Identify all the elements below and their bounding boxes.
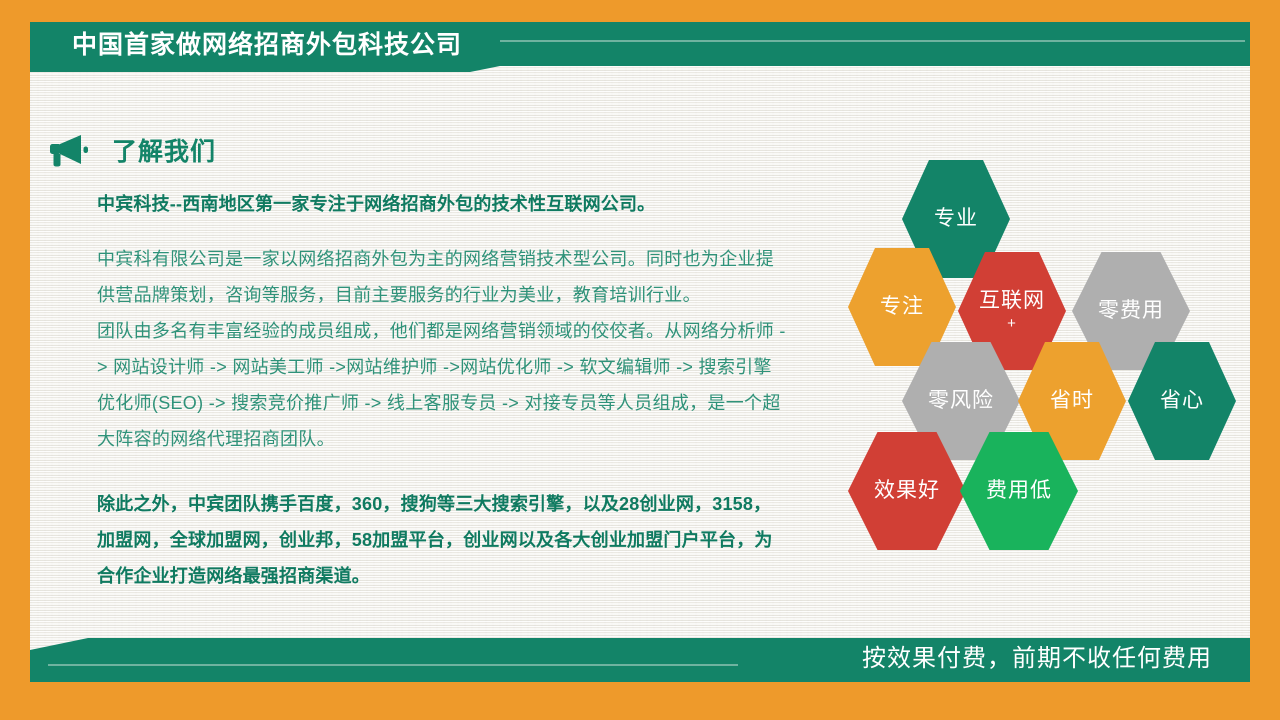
megaphone-icon xyxy=(48,133,90,167)
header-title: 中国首家做网络招商外包科技公司 xyxy=(72,22,462,69)
header-divider-line xyxy=(500,40,1245,42)
hexagon-label: 零费用 xyxy=(1098,298,1164,324)
slide-root: 中国首家做网络招商外包科技公司 了解我们 中宾科技--西南地区第一家专注于网络招… xyxy=(0,0,1280,720)
hexagon-label: 专业 xyxy=(934,206,978,232)
footer-banner: 按效果付费，前期不收任何费用 xyxy=(30,638,1250,682)
about-lead-line: 中宾科技--西南地区第一家专注于网络招商外包的技术性互联网公司。 xyxy=(97,191,787,217)
hexagon-label: 效果好 xyxy=(874,478,940,504)
hexagon-label: 省时 xyxy=(1050,388,1094,414)
about-closing-paragraph: 除此之外，中宾团队携手百度，360，搜狗等三大搜索引擎，以及28创业网，3158… xyxy=(97,486,787,594)
hexagon-label: 专注 xyxy=(880,294,924,320)
about-paragraph-1: 中宾科有限公司是一家以网络招商外包为主的网络营销技术型公司。同时也为企业提供营品… xyxy=(97,241,787,313)
header-banner: 中国首家做网络招商外包科技公司 xyxy=(30,22,1250,72)
about-paragraph-2: 团队由多名有丰富经验的成员组成，他们都是网络营销领域的佼佼者。从网络分析师 ->… xyxy=(97,313,787,457)
hexagon-label: 费用低 xyxy=(986,478,1052,504)
hexagon-keyword-cluster: 专业专注互联网+零费用零风险省时省心效果好费用低 xyxy=(840,160,1250,540)
section-title: 了解我们 xyxy=(112,132,216,168)
hexagon-label: 省心 xyxy=(1160,388,1204,414)
section-heading: 了解我们 xyxy=(48,132,216,168)
footer-tagline: 按效果付费，前期不收任何费用 xyxy=(862,638,1212,682)
hexagon-label: 互联网 xyxy=(979,288,1045,314)
hexagon-sublabel: + xyxy=(979,314,1045,334)
footer-divider-line xyxy=(48,664,738,666)
hexagon-label: 零风险 xyxy=(928,388,994,414)
about-text-block: 中宾科技--西南地区第一家专注于网络招商外包的技术性互联网公司。 中宾科有限公司… xyxy=(97,191,787,594)
